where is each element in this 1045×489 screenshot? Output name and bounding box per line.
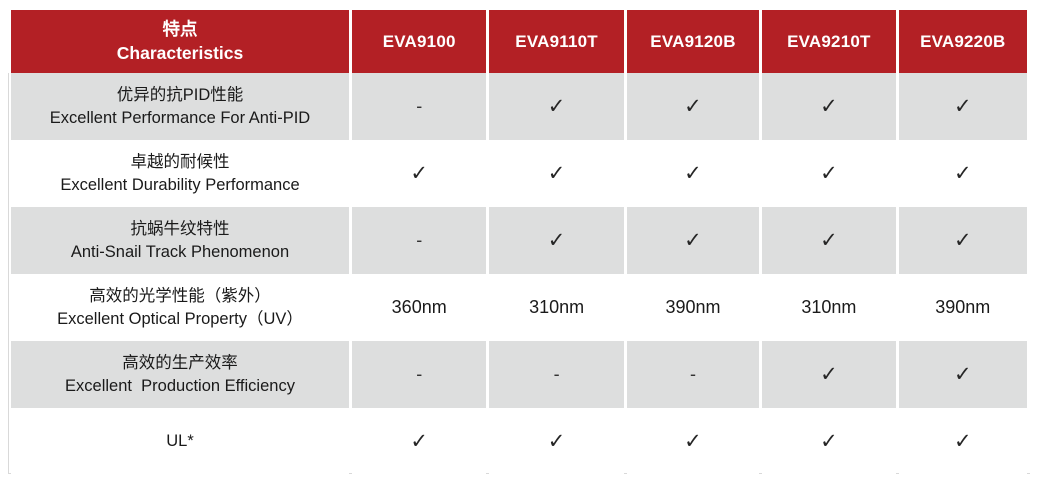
value-cell: ✓ — [627, 140, 759, 207]
value-cell: - — [352, 207, 486, 274]
value-cell: ✓ — [899, 408, 1027, 475]
value-cell: ✓ — [899, 140, 1027, 207]
characteristic-cn: 抗蜗牛纹特性 — [13, 218, 347, 240]
value-cell: ✓ — [762, 207, 895, 274]
value-text: 360nm — [392, 297, 447, 317]
check-icon: ✓ — [548, 96, 566, 117]
characteristic-en: UL* — [13, 430, 347, 452]
characteristic-cn: 高效的光学性能（紫外） — [13, 285, 347, 307]
value-cell: ✓ — [489, 140, 623, 207]
value-text: 310nm — [801, 297, 856, 317]
check-icon: ✓ — [548, 431, 566, 452]
value-cell: ✓ — [489, 207, 623, 274]
value-cell: ✓ — [352, 408, 486, 475]
header-model-eva9210t: EVA9210T — [762, 10, 895, 73]
value-cell: 310nm — [489, 274, 623, 341]
check-icon: ✓ — [820, 364, 838, 385]
check-icon: ✓ — [820, 431, 838, 452]
check-icon: ✓ — [548, 230, 566, 251]
value-cell: ✓ — [489, 408, 623, 475]
characteristic-cn: 卓越的耐候性 — [13, 151, 347, 173]
value-cell: 310nm — [762, 274, 895, 341]
value-cell: - — [489, 341, 623, 408]
value-cell: ✓ — [899, 207, 1027, 274]
characteristic-cell: 高效的生产效率Excellent Production Efficiency — [11, 341, 349, 408]
check-icon: ✓ — [410, 431, 428, 452]
characteristic-en: Excellent Performance For Anti-PID — [13, 107, 347, 129]
check-icon: ✓ — [954, 163, 972, 184]
dash-icon: - — [416, 96, 422, 117]
check-icon: ✓ — [684, 431, 702, 452]
check-icon: ✓ — [820, 96, 838, 117]
dash-icon: - — [416, 364, 422, 385]
header-row: 特点 Characteristics EVA9100 EVA9110T EVA9… — [11, 10, 1027, 73]
value-cell: ✓ — [627, 207, 759, 274]
header-characteristics-en: Characteristics — [13, 42, 347, 65]
value-cell: ✓ — [762, 408, 895, 475]
value-cell: 390nm — [627, 274, 759, 341]
header-characteristics: 特点 Characteristics — [11, 10, 349, 73]
check-icon: ✓ — [684, 96, 702, 117]
header-model-eva9110t: EVA9110T — [489, 10, 623, 73]
characteristic-en: Excellent Optical Property（UV） — [13, 308, 347, 330]
value-cell: 390nm — [899, 274, 1027, 341]
product-specification-table: 特点 Characteristics EVA9100 EVA9110T EVA9… — [8, 10, 1030, 475]
check-icon: ✓ — [548, 163, 566, 184]
characteristic-cn: 高效的生产效率 — [13, 352, 347, 374]
table-row: 卓越的耐候性Excellent Durability Performance✓✓… — [11, 140, 1027, 207]
header-model-eva9100: EVA9100 — [352, 10, 486, 73]
value-cell: ✓ — [352, 140, 486, 207]
value-cell: ✓ — [762, 341, 895, 408]
table-body: 优异的抗PID性能Excellent Performance For Anti-… — [11, 73, 1027, 475]
value-cell: - — [352, 341, 486, 408]
check-icon: ✓ — [410, 163, 428, 184]
characteristic-en: Anti-Snail Track Phenomenon — [13, 241, 347, 263]
table-header: 特点 Characteristics EVA9100 EVA9110T EVA9… — [11, 10, 1027, 73]
characteristic-cell: 抗蜗牛纹特性Anti-Snail Track Phenomenon — [11, 207, 349, 274]
check-icon: ✓ — [954, 230, 972, 251]
table-row: 高效的生产效率Excellent Production Efficiency--… — [11, 341, 1027, 408]
characteristic-cell: 卓越的耐候性Excellent Durability Performance — [11, 140, 349, 207]
value-text: 390nm — [935, 297, 990, 317]
value-text: 310nm — [529, 297, 584, 317]
value-cell: ✓ — [762, 140, 895, 207]
check-icon: ✓ — [954, 96, 972, 117]
table-row: UL*✓✓✓✓✓ — [11, 408, 1027, 475]
value-cell: ✓ — [627, 73, 759, 140]
dash-icon: - — [554, 364, 560, 385]
characteristic-cell: 高效的光学性能（紫外）Excellent Optical Property（UV… — [11, 274, 349, 341]
value-cell: ✓ — [899, 341, 1027, 408]
dash-icon: - — [690, 364, 696, 385]
characteristic-cell: UL* — [11, 408, 349, 475]
characteristic-en: Excellent Durability Performance — [13, 174, 347, 196]
table-row: 优异的抗PID性能Excellent Performance For Anti-… — [11, 73, 1027, 140]
check-icon: ✓ — [820, 163, 838, 184]
dash-icon: - — [416, 230, 422, 251]
value-cell: 360nm — [352, 274, 486, 341]
characteristic-cell: 优异的抗PID性能Excellent Performance For Anti-… — [11, 73, 349, 140]
check-icon: ✓ — [954, 364, 972, 385]
value-cell: ✓ — [899, 73, 1027, 140]
check-icon: ✓ — [820, 230, 838, 251]
table-row: 高效的光学性能（紫外）Excellent Optical Property（UV… — [11, 274, 1027, 341]
characteristic-cn: 优异的抗PID性能 — [13, 84, 347, 106]
value-cell: ✓ — [627, 408, 759, 475]
value-cell: ✓ — [762, 73, 895, 140]
value-text: 390nm — [665, 297, 720, 317]
check-icon: ✓ — [954, 431, 972, 452]
header-model-eva9220b: EVA9220B — [899, 10, 1027, 73]
table-row: 抗蜗牛纹特性Anti-Snail Track Phenomenon-✓✓✓✓ — [11, 207, 1027, 274]
check-icon: ✓ — [684, 163, 702, 184]
check-icon: ✓ — [684, 230, 702, 251]
value-cell: ✓ — [489, 73, 623, 140]
value-cell: - — [627, 341, 759, 408]
header-model-eva9120b: EVA9120B — [627, 10, 759, 73]
header-characteristics-cn: 特点 — [13, 18, 347, 41]
characteristic-en: Excellent Production Efficiency — [13, 375, 347, 397]
value-cell: - — [352, 73, 486, 140]
